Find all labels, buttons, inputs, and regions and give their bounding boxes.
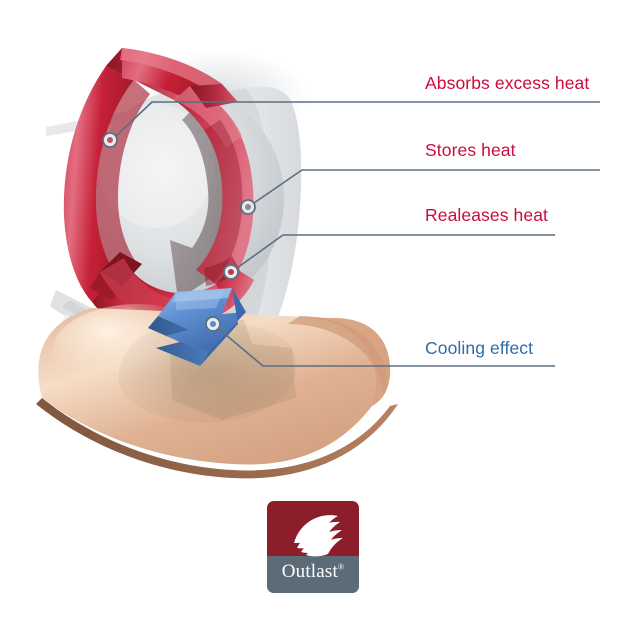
callout-label-absorbs: Absorbs excess heat	[425, 73, 589, 94]
callout-label-releases: Realeases heat	[425, 205, 548, 226]
registered-mark: ®	[338, 563, 344, 572]
callout-label-cooling: Cooling effect	[425, 338, 533, 359]
outlast-wordmark: Outlast®	[267, 561, 359, 583]
outlast-logo-wordmark-wrap[interactable]: Outlast®	[267, 501, 359, 593]
leader-line-stores	[254, 170, 600, 203]
diagram-canvas: Absorbs excess heat Stores heat Realease…	[0, 0, 625, 625]
callout-label-stores: Stores heat	[425, 140, 516, 161]
outlast-brand-text: Outlast	[282, 561, 338, 582]
